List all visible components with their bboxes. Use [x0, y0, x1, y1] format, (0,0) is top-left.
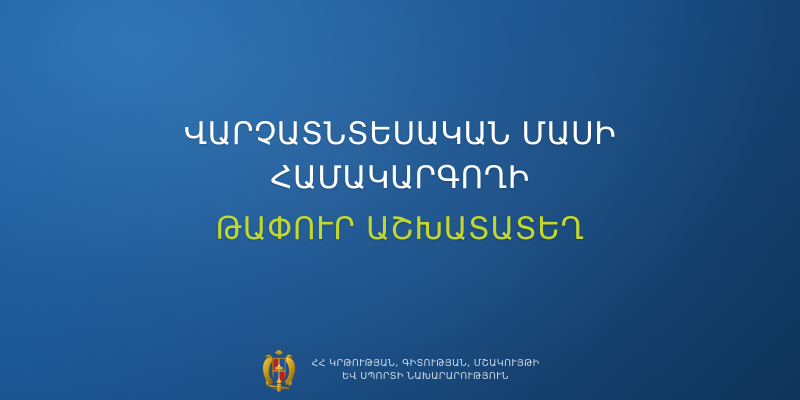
- headline-line-2: ՀԱՄԱԿԱՐԳՈՂԻ: [0, 156, 800, 200]
- armenian-coat-of-arms-icon: [260, 348, 298, 392]
- ministry-name-line-1: ՀՀ ԿՐԹՈՒԹՅԱՆ, ԳԻՏՈՒԹՅԱՆ, ՄՇԱԿՈՒՅԹԻ: [311, 357, 539, 370]
- headline-block: ՎԱՐՉԱՏՆՏԵՍԱԿԱՆ ՄԱՍԻ ՀԱՄԱԿԱՐԳՈՂԻ ԹԱՓՈՒՐ Ա…: [0, 112, 800, 251]
- ministry-name: ՀՀ ԿՐԹՈՒԹՅԱՆ, ԳԻՏՈՒԹՅԱՆ, ՄՇԱԿՈՒՅԹԻ ԵՎ ՍՊ…: [311, 357, 539, 383]
- vacancy-announcement-banner: ՎԱՐՉԱՏՆՏԵՍԱԿԱՆ ՄԱՍԻ ՀԱՄԱԿԱՐԳՈՂԻ ԹԱՓՈՒՐ Ա…: [0, 0, 800, 400]
- ministry-name-line-2: ԵՎ ՍՊՈՐՏԻ ՆԱԽԱՐԱՐՈՒԹՅՈՒՆ: [342, 370, 509, 383]
- headline-line-1: ՎԱՐՉԱՏՆՏԵՍԱԿԱՆ ՄԱՍԻ: [0, 112, 800, 156]
- headline-line-3-vacancy: ԹԱՓՈՒՐ ԱՇԽԱՏԱՏԵՂ: [0, 207, 800, 251]
- ministry-footer: ՀՀ ԿՐԹՈՒԹՅԱՆ, ԳԻՏՈՒԹՅԱՆ, ՄՇԱԿՈՒՅԹԻ ԵՎ ՍՊ…: [0, 348, 800, 392]
